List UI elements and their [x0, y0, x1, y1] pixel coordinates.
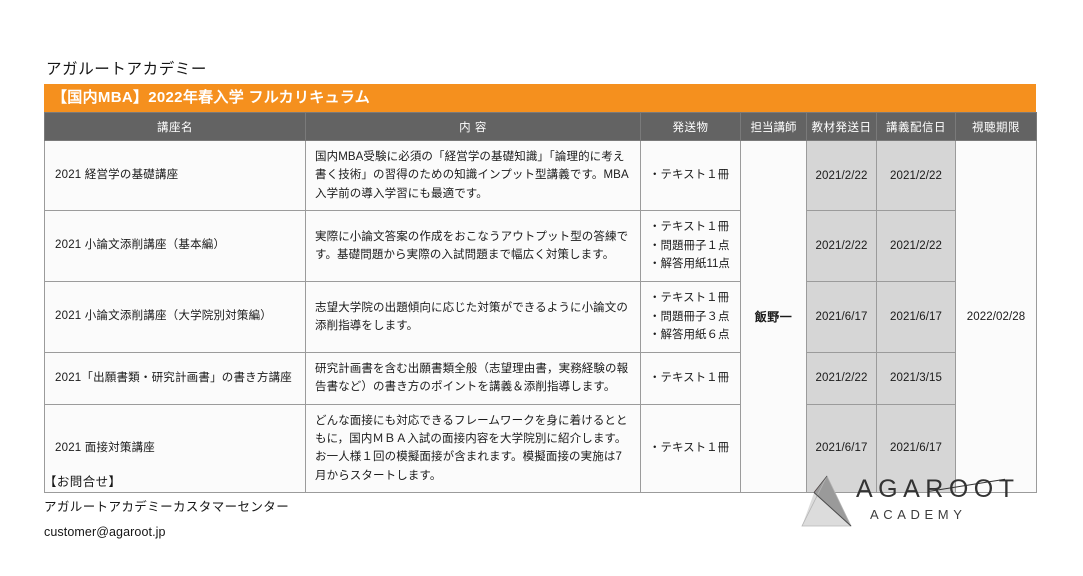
column-header-shipment: 発送物 [641, 113, 741, 141]
cell-course-name: 2021 経営学の基礎講座 [45, 141, 306, 211]
curriculum-table: 講座名 内 容 発送物 担当講師 教材発送日 講義配信日 視聴期限 2021 経… [44, 112, 1037, 493]
table-row: 2021 小論文添削講座（大学院別対策編） 志望大学院の出題傾向に応じた対策がで… [45, 282, 1037, 353]
document-page: アガルートアカデミー 【国内MBA】2022年春入学 フルカリキュラム 講座名 … [0, 0, 1083, 576]
footer-contact-block: 【お問合せ】 アガルートアカデミーカスタマーセンター customer@agar… [44, 470, 289, 545]
brand-heading: アガルートアカデミー [46, 57, 207, 79]
column-header-lecturer: 担当講師 [741, 113, 807, 141]
column-header-viewing-deadline: 視聴期限 [956, 113, 1037, 141]
contact-label: 【お問合せ】 [44, 470, 289, 495]
cell-material-ship-date: 2021/2/22 [807, 211, 877, 282]
cell-shipment: ・テキスト１冊 [641, 352, 741, 404]
column-header-material-ship-date: 教材発送日 [807, 113, 877, 141]
cell-course-name: 2021 小論文添削講座（基本編） [45, 211, 306, 282]
contact-email: customer@agaroot.jp [44, 520, 289, 545]
cell-course-content: どんな面接にも対応できるフレームワークを身に着けるとともに，国内ＭＢＡ入試の面接… [306, 404, 641, 493]
cell-material-ship-date: 2021/2/22 [807, 352, 877, 404]
column-header-name: 講座名 [45, 113, 306, 141]
table-row: 2021 小論文添削講座（基本編） 実際に小論文答案の作成をおこなうアウトプット… [45, 211, 1037, 282]
customer-center-name: アガルートアカデミーカスタマーセンター [44, 495, 289, 520]
curriculum-title-bar: 【国内MBA】2022年春入学 フルカリキュラム [44, 84, 1036, 112]
mountain-logo-icon [796, 474, 858, 532]
cell-shipment: ・テキスト１冊 ・問題冊子１点 ・解答用紙11点 [641, 211, 741, 282]
cell-course-content: 研究計画書を含む出願書類全般（志望理由書，実務経験の報告書など）の書き方のポイン… [306, 352, 641, 404]
column-header-content: 内 容 [306, 113, 641, 141]
logo-text-block: AGAROOT ACADEMY [856, 474, 1016, 526]
logo-wordmark: AGAROOT [856, 474, 1016, 504]
cell-course-content: 国内MBA受験に必須の「経営学の基礎知識」「論理的に考え書く技術」の習得のための… [306, 141, 641, 211]
column-header-lecture-release-date: 講義配信日 [877, 113, 956, 141]
cell-material-ship-date: 2021/6/17 [807, 282, 877, 353]
cell-lecture-release-date: 2021/2/22 [877, 211, 956, 282]
cell-lecture-release-date: 2021/3/15 [877, 352, 956, 404]
cell-shipment: ・テキスト１冊 [641, 404, 741, 493]
agaroot-logo: AGAROOT ACADEMY [796, 474, 1016, 536]
table-row: 2021 経営学の基礎講座 国内MBA受験に必須の「経営学の基礎知識」「論理的に… [45, 141, 1037, 211]
table-header-row: 講座名 内 容 発送物 担当講師 教材発送日 講義配信日 視聴期限 [45, 113, 1037, 141]
cell-viewing-deadline: 2022/02/28 [956, 141, 1037, 493]
cell-lecture-release-date: 2021/6/17 [877, 282, 956, 353]
cell-course-content: 実際に小論文答案の作成をおこなうアウトプット型の答練です。基礎問題から実際の入試… [306, 211, 641, 282]
cell-lecture-release-date: 2021/2/22 [877, 141, 956, 211]
logo-subtitle: ACADEMY [856, 504, 1016, 526]
cell-course-name: 2021「出願書類・研究計画書」の書き方講座 [45, 352, 306, 404]
cell-material-ship-date: 2021/2/22 [807, 141, 877, 211]
cell-course-content: 志望大学院の出題傾向に応じた対策ができるように小論文の添削指導をします。 [306, 282, 641, 353]
cell-shipment: ・テキスト１冊 [641, 141, 741, 211]
table-row: 2021「出願書類・研究計画書」の書き方講座 研究計画書を含む出願書類全般（志望… [45, 352, 1037, 404]
cell-course-name: 2021 小論文添削講座（大学院別対策編） [45, 282, 306, 353]
cell-shipment: ・テキスト１冊 ・問題冊子３点 ・解答用紙６点 [641, 282, 741, 353]
cell-lecturer: 飯野一 [741, 141, 807, 493]
